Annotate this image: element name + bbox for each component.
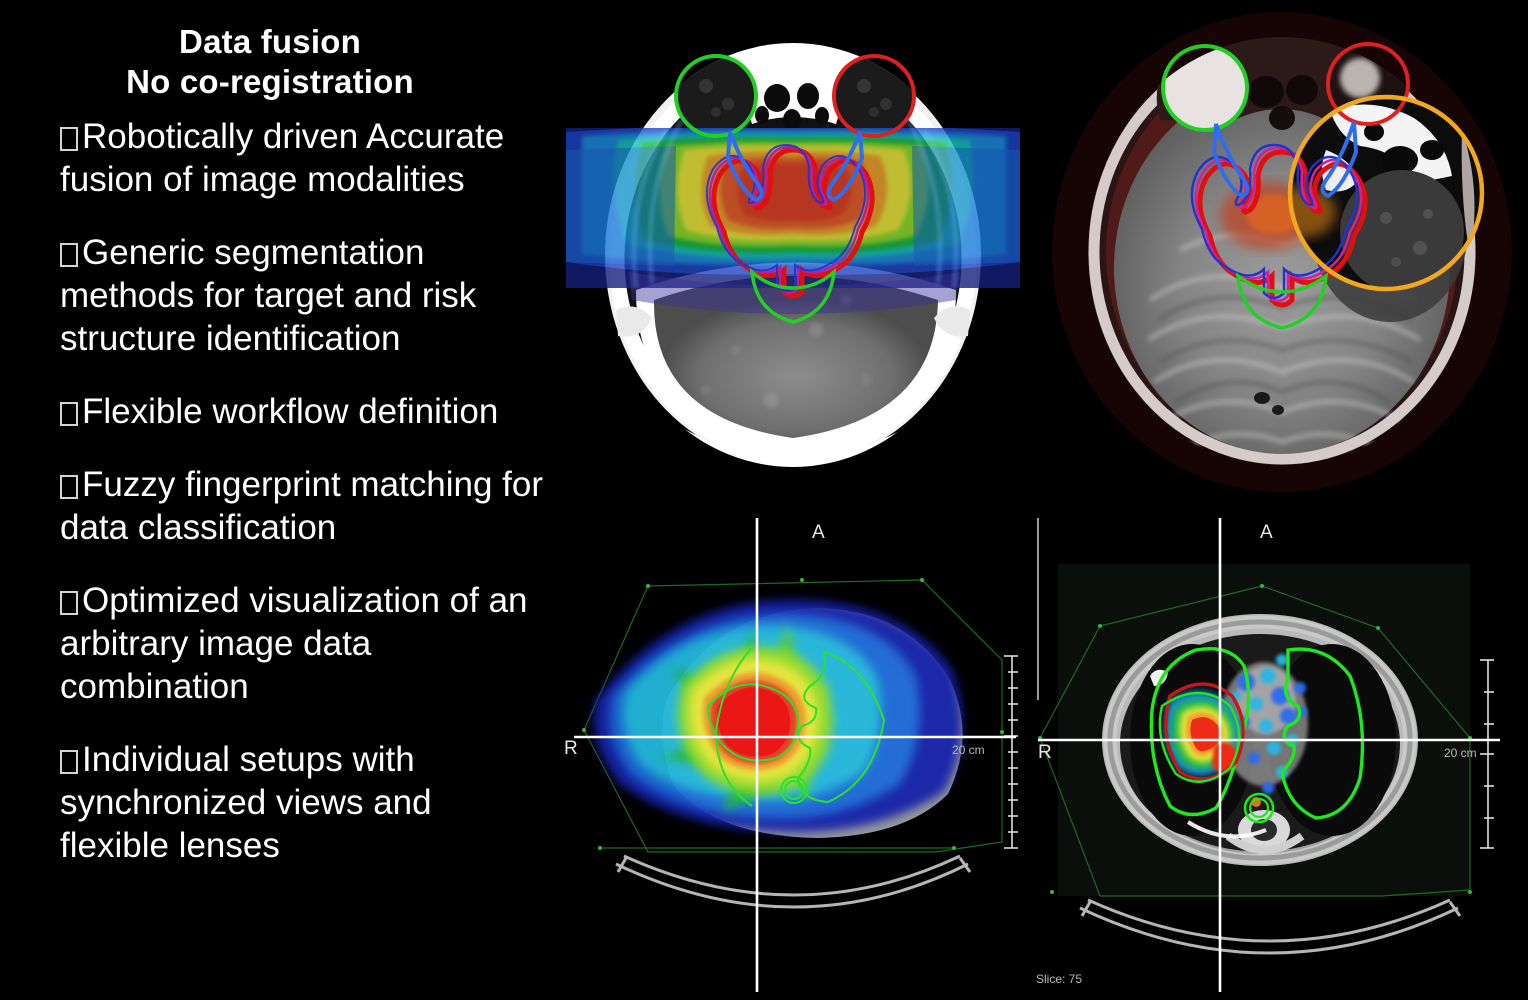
viewport-dose-3d[interactable]: A R 20 cm bbox=[556, 500, 1030, 1000]
list-item: Robotically driven Accurate fusion of im… bbox=[60, 115, 550, 201]
scale-label: 20 cm bbox=[952, 743, 985, 757]
bullet-list: Robotically driven Accurate fusion of im… bbox=[60, 115, 550, 897]
bullet-box-icon bbox=[60, 750, 78, 774]
page-title: Data fusion No co-registration bbox=[0, 22, 540, 102]
bullet-box-icon bbox=[60, 475, 78, 499]
viewport-mri-lens[interactable] bbox=[1030, 0, 1528, 500]
bullet-text: Flexible workflow definition bbox=[82, 392, 498, 431]
list-item: Individual setups with synchronized view… bbox=[60, 738, 550, 867]
bullet-text: Robotically driven Accurate fusion of im… bbox=[60, 117, 514, 199]
scale-label: 20 cm bbox=[1444, 746, 1477, 760]
bullet-box-icon bbox=[60, 402, 78, 426]
slide-root: Data fusion No co-registration Robotical… bbox=[0, 0, 1528, 1000]
bullet-box-icon bbox=[60, 127, 78, 151]
viewport-ct-dose[interactable] bbox=[556, 0, 1030, 500]
orientation-label-right: R bbox=[564, 738, 578, 760]
bullet-box-icon bbox=[60, 591, 78, 615]
list-item: Fuzzy fingerprint matching for data clas… bbox=[60, 463, 550, 549]
bullet-text: Fuzzy fingerprint matching for data clas… bbox=[60, 465, 553, 547]
list-item: Optimized visualization of an arbitrary … bbox=[60, 579, 550, 708]
orientation-label-anterior: A bbox=[1260, 522, 1273, 544]
list-item: Flexible workflow definition bbox=[60, 390, 550, 433]
list-item: Generic segmentation methods for target … bbox=[60, 231, 550, 360]
slice-label: Slice: 75 bbox=[1036, 972, 1082, 986]
bullet-box-icon bbox=[60, 243, 78, 267]
title-line-2: No co-registration bbox=[0, 62, 540, 102]
orientation-label-anterior: A bbox=[812, 522, 825, 544]
text-column: Data fusion No co-registration Robotical… bbox=[0, 0, 556, 1000]
title-line-1: Data fusion bbox=[0, 22, 540, 62]
bullet-text: Individual setups with synchronized view… bbox=[60, 740, 441, 865]
orientation-label-right: R bbox=[1038, 742, 1052, 764]
bullet-text: Generic segmentation methods for target … bbox=[60, 233, 486, 358]
bullet-text: Optimized visualization of an arbitrary … bbox=[60, 581, 537, 706]
viewport-pet-thorax[interactable]: A R 20 cm Slice: 75 bbox=[1030, 500, 1528, 1000]
